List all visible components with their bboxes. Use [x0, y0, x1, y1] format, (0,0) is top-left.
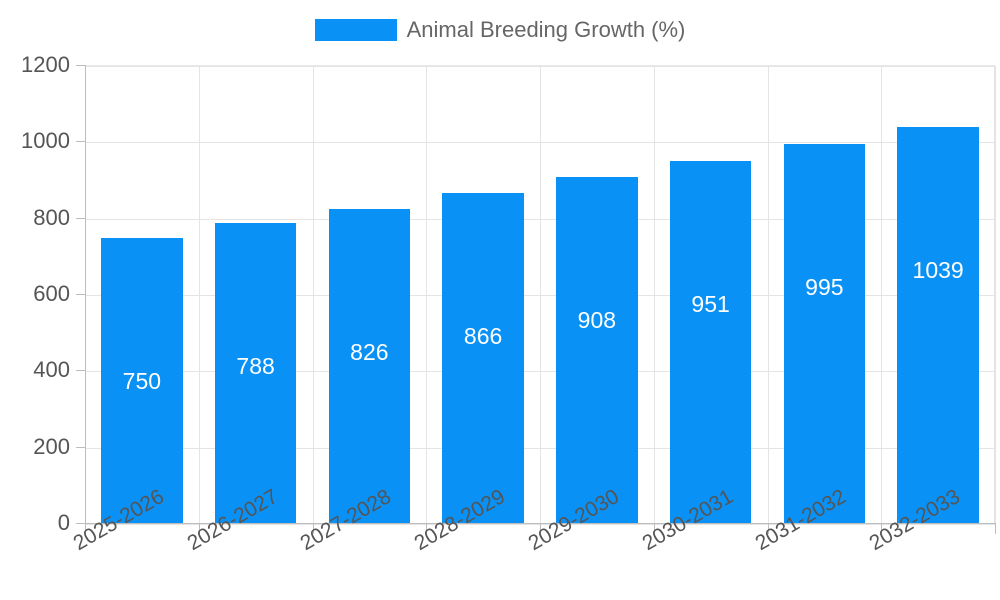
bar-value-label: 788	[215, 355, 296, 378]
bar-value-label: 826	[329, 341, 410, 364]
bar[interactable]	[784, 144, 865, 524]
y-axis-tick-mark	[76, 523, 85, 524]
y-axis-tick-label: 600	[0, 283, 70, 305]
bar[interactable]	[329, 209, 410, 524]
gridline-vertical	[995, 66, 996, 524]
y-axis-tick-label: 200	[0, 436, 70, 458]
y-axis-tick-label: 1200	[0, 54, 70, 76]
bar-value-label: 866	[442, 325, 523, 348]
legend-swatch-icon	[315, 19, 397, 41]
x-axis-tick-mark	[995, 524, 996, 534]
bar-value-label: 908	[556, 309, 637, 332]
bar-value-label: 750	[101, 370, 182, 393]
bar-value-label: 951	[670, 293, 751, 316]
y-axis-tick-mark	[76, 218, 85, 219]
bar-value-label: 1039	[897, 259, 978, 282]
y-axis-tick-mark	[76, 141, 85, 142]
bar[interactable]	[897, 127, 978, 524]
y-axis-line	[85, 65, 86, 524]
bar-value-label: 995	[784, 276, 865, 299]
y-axis-tick-mark	[76, 370, 85, 371]
gridline-vertical	[540, 66, 541, 524]
bar-chart: Animal Breeding Growth (%) 0200400600800…	[0, 0, 1000, 600]
plot-area: 7507888268669089519951039	[85, 65, 995, 523]
y-axis-tick-label: 800	[0, 207, 70, 229]
gridline-vertical	[199, 66, 200, 524]
gridline-vertical	[881, 66, 882, 524]
bar[interactable]	[670, 161, 751, 524]
y-axis-tick-mark	[76, 294, 85, 295]
y-axis-tick-label: 1000	[0, 130, 70, 152]
chart-legend: Animal Breeding Growth (%)	[0, 8, 1000, 52]
gridline-vertical	[768, 66, 769, 524]
gridline-vertical	[654, 66, 655, 524]
bar[interactable]	[442, 193, 523, 524]
y-axis-tick-label: 0	[0, 512, 70, 534]
bar[interactable]	[556, 177, 637, 524]
y-axis-tick-mark	[76, 447, 85, 448]
legend-item-animal-breeding-growth[interactable]: Animal Breeding Growth (%)	[315, 19, 686, 41]
gridline-vertical	[426, 66, 427, 524]
gridline-vertical	[313, 66, 314, 524]
y-axis-tick-label: 400	[0, 359, 70, 381]
legend-label: Animal Breeding Growth (%)	[407, 19, 686, 41]
y-axis-tick-mark	[76, 65, 85, 66]
